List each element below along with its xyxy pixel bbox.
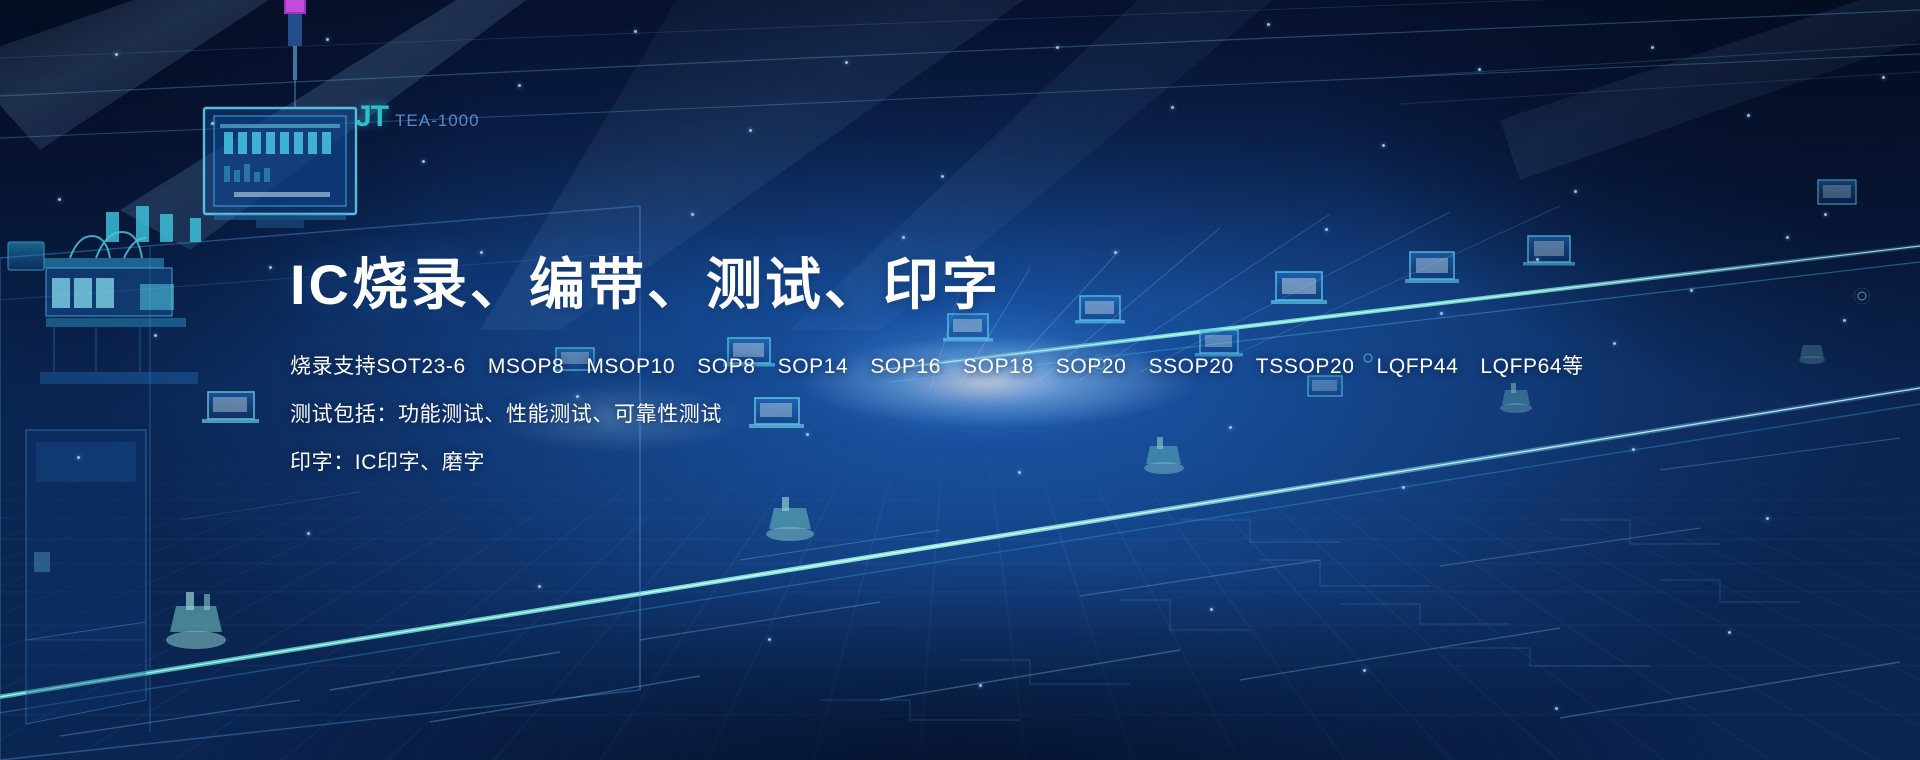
brand-model-text: TEA-1000 [395, 111, 480, 131]
package-item: SOP8 [697, 356, 755, 377]
test-scope-line: 测试包括：功能测试、性能测试、可靠性测试 [290, 404, 1590, 425]
banner-content: IC烧录、编带、测试、印字 烧录支持SOT23-6MSOP8MSOP10SOP8… [290, 250, 1590, 473]
marking-service-line: 印字：IC印字、磨字 [290, 452, 1590, 473]
package-item: MSOP10 [586, 356, 675, 377]
package-list: MSOP8MSOP10SOP8SOP14SOP16SOP18SOP20SSOP2… [488, 355, 1584, 378]
package-item: MSOP8 [488, 356, 565, 377]
package-item: SOP20 [1056, 356, 1127, 377]
package-item: TSSOP20 [1256, 356, 1355, 377]
package-item: LQFP44 [1377, 356, 1459, 377]
package-item: SOP16 [870, 356, 941, 377]
package-item: SOP14 [778, 356, 849, 377]
service-detail-list: 烧录支持SOT23-6MSOP8MSOP10SOP8SOP14SOP16SOP1… [290, 356, 1590, 473]
package-item: LQFP64等 [1480, 356, 1583, 377]
package-item: SSOP20 [1148, 356, 1233, 377]
burn-support-label: 烧录支持SOT23-6 [290, 356, 466, 377]
equipment-brand-mark: JT TEA-1000 [355, 100, 480, 134]
brand-logo-text: JT [355, 100, 388, 134]
page-title: IC烧录、编带、测试、印字 [290, 250, 1590, 320]
package-item: SOP18 [963, 356, 1034, 377]
burn-support-line: 烧录支持SOT23-6MSOP8MSOP10SOP8SOP14SOP16SOP1… [290, 356, 1590, 377]
hero-banner: JT TEA-1000 IC烧录、编带、测试、印字 烧录支持SOT23-6MSO… [0, 0, 1920, 760]
